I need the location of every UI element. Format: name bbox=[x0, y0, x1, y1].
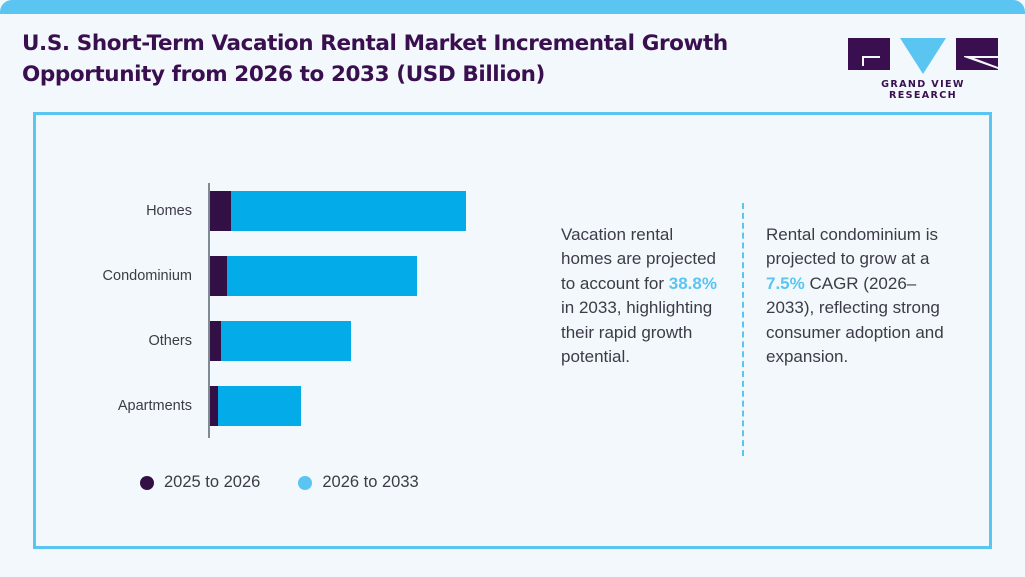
bar-segment-apartments-2026-2033[interactable] bbox=[218, 386, 301, 426]
legend-dot-icon-2026-2033 bbox=[298, 476, 312, 490]
bar-row-condominium[interactable]: Condominium bbox=[36, 256, 536, 296]
bar-track-condominium bbox=[210, 256, 417, 296]
bar-row-others[interactable]: Others bbox=[36, 321, 536, 361]
bar-label-others: Others bbox=[148, 333, 192, 349]
bar-row-homes[interactable]: Homes bbox=[36, 191, 536, 231]
callout-vacation-rental-homes-share: Vacation rental homes are projected to a… bbox=[561, 223, 721, 369]
bar-segment-condominium-2026-2033[interactable] bbox=[227, 256, 417, 296]
bar-segment-homes-2026-2033[interactable] bbox=[231, 191, 466, 231]
bar-label-apartments: Apartments bbox=[118, 398, 192, 414]
grand-view-research-logo: GRAND VIEW RESEARCH bbox=[848, 36, 998, 94]
callout-rental-condominium-cagr: Rental condominium is projected to grow … bbox=[766, 223, 956, 369]
chart-panel: Homes Condominium Others Apartments bbox=[33, 112, 992, 549]
bar-segment-apartments-2025-2026[interactable] bbox=[210, 386, 218, 426]
bar-segment-others-2025-2026[interactable] bbox=[210, 321, 221, 361]
legend-dot-icon-2025-2026 bbox=[140, 476, 154, 490]
bar-segment-condominium-2025-2026[interactable] bbox=[210, 256, 227, 296]
legend-item-2026-to-2033[interactable]: 2026 to 2033 bbox=[298, 473, 418, 492]
callout-1-post: in 2033, highlighting their rapid growth… bbox=[561, 298, 712, 366]
bar-track-apartments bbox=[210, 386, 301, 426]
bar-row-apartments[interactable]: Apartments bbox=[36, 386, 536, 426]
top-accent-bar bbox=[0, 0, 1025, 14]
page-title: U.S. Short-Term Vacation Rental Market I… bbox=[22, 28, 822, 90]
bar-label-condominium: Condominium bbox=[103, 268, 192, 284]
bar-segment-homes-2025-2026[interactable] bbox=[210, 191, 231, 231]
gvr-logo-mark-icon bbox=[848, 36, 998, 76]
bar-track-others bbox=[210, 321, 351, 361]
chart-legend: 2025 to 2026 2026 to 2033 bbox=[140, 473, 419, 492]
bar-track-homes bbox=[210, 191, 466, 231]
legend-label-2026-2033: 2026 to 2033 bbox=[322, 473, 418, 492]
legend-label-2025-2026: 2025 to 2026 bbox=[164, 473, 260, 492]
callout-2-pre: Rental condominium is projected to grow … bbox=[766, 225, 938, 268]
logo-wordmark: GRAND VIEW RESEARCH bbox=[848, 79, 998, 101]
callout-divider bbox=[742, 203, 744, 456]
bar-segment-others-2026-2033[interactable] bbox=[221, 321, 351, 361]
callout-2-highlight: 7.5% bbox=[766, 274, 805, 293]
bar-chart: Homes Condominium Others Apartments bbox=[36, 115, 536, 552]
header: U.S. Short-Term Vacation Rental Market I… bbox=[0, 14, 1025, 109]
bar-label-homes: Homes bbox=[146, 203, 192, 219]
callout-1-highlight: 38.8% bbox=[669, 274, 717, 293]
legend-item-2025-to-2026[interactable]: 2025 to 2026 bbox=[140, 473, 260, 492]
